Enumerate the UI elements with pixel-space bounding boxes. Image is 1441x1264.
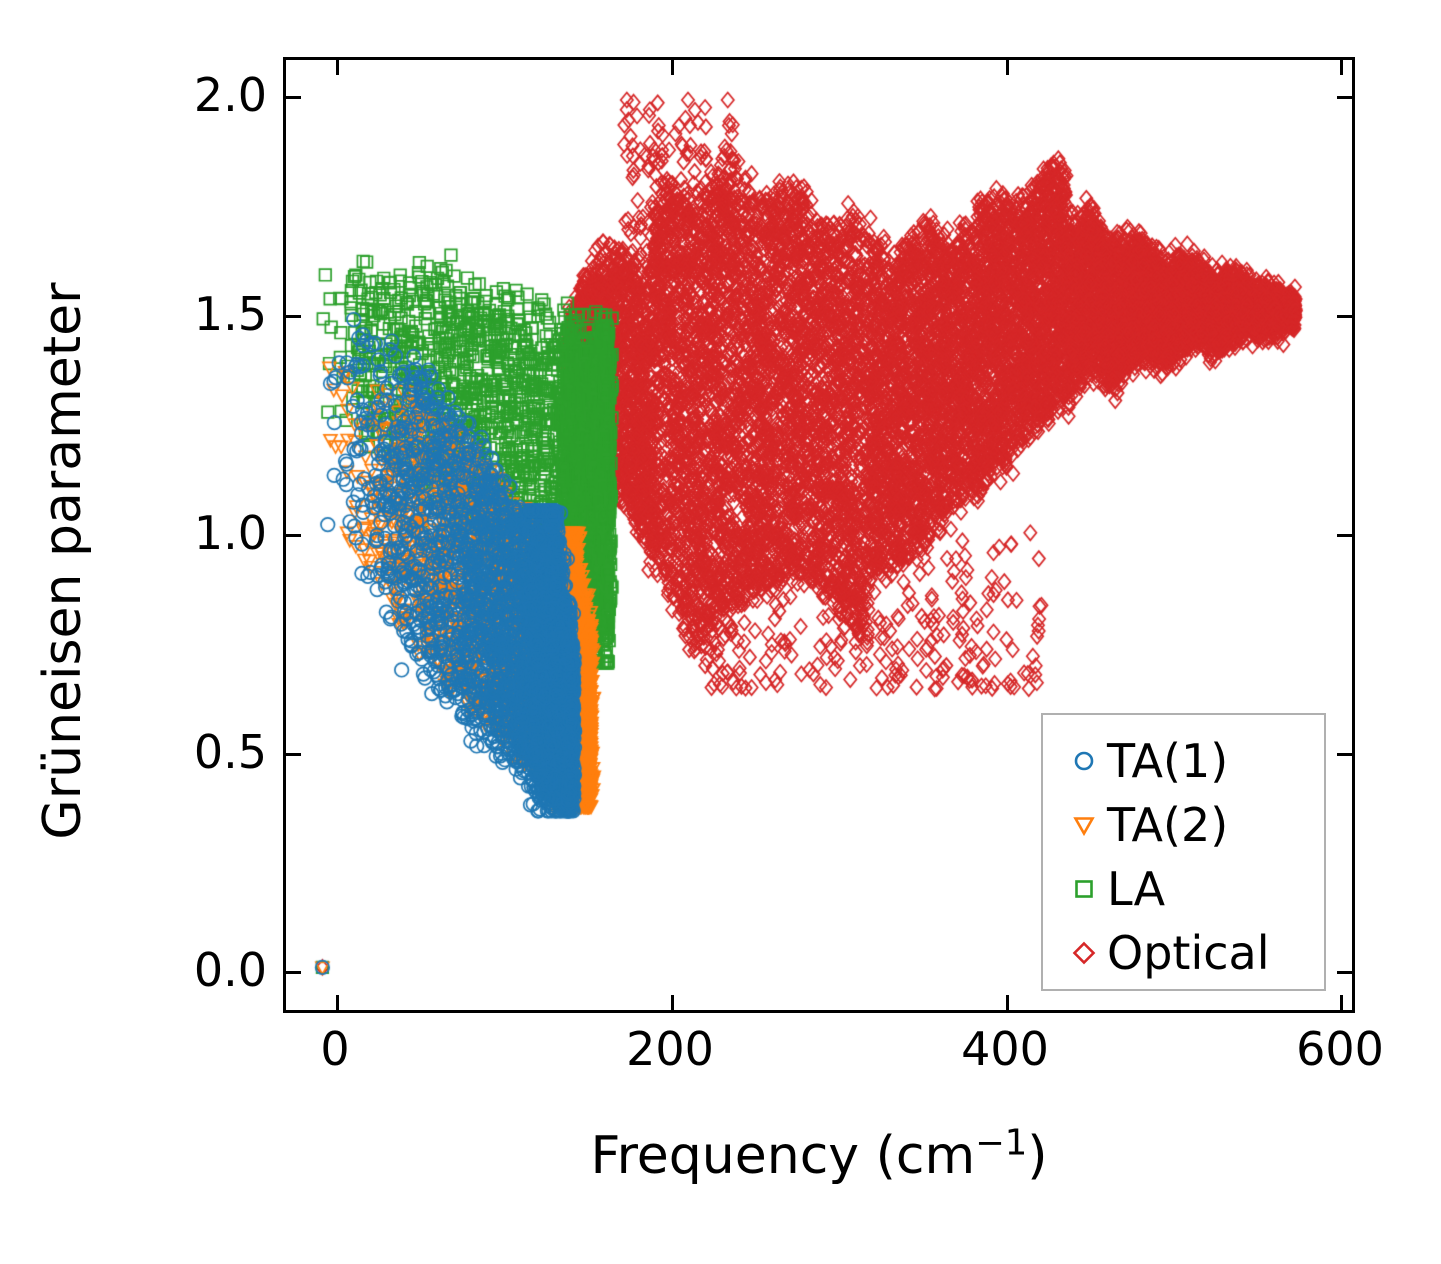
x-axis-label-text: Frequency (cm xyxy=(590,1126,975,1186)
circle-open-icon xyxy=(1061,746,1107,776)
x-tick-bottom xyxy=(671,995,674,1010)
x-axis-label-tail: ) xyxy=(1027,1126,1047,1186)
legend[interactable]: TA(1) TA(2) LA Optical xyxy=(1041,713,1326,991)
legend-label-ta1: TA(1) xyxy=(1107,738,1228,784)
y-tick-right xyxy=(1337,534,1352,537)
y-tick-left xyxy=(286,534,301,537)
legend-label-optical: Optical xyxy=(1107,930,1269,976)
y-tick-label: 0.0 xyxy=(107,947,267,993)
x-tick-label: 400 xyxy=(961,1026,1049,1072)
x-axis-label: Frequency (cm−1) xyxy=(590,1130,1047,1182)
y-tick-right xyxy=(1337,971,1352,974)
diamond-open-icon xyxy=(1061,938,1107,968)
x-tick-bottom xyxy=(1006,995,1009,1010)
figure-canvas: Grüneisen parameter 2.0 1.5 1.0 0.5 0.0 … xyxy=(0,0,1441,1264)
y-tick-left xyxy=(286,315,301,318)
x-tick-bottom xyxy=(336,995,339,1010)
y-tick-left xyxy=(286,753,301,756)
x-tick-bottom xyxy=(1340,995,1343,1010)
legend-label-la: LA xyxy=(1107,866,1165,912)
x-axis-label-exponent: −1 xyxy=(975,1123,1027,1164)
y-tick-label: 1.0 xyxy=(107,510,267,556)
legend-item-ta2[interactable]: TA(2) xyxy=(1061,793,1314,857)
y-tick-right xyxy=(1337,753,1352,756)
y-tick-right xyxy=(1337,315,1352,318)
legend-item-optical[interactable]: Optical xyxy=(1061,921,1314,985)
legend-item-la[interactable]: LA xyxy=(1061,857,1314,921)
legend-label-ta2: TA(2) xyxy=(1107,802,1228,848)
x-tick-top xyxy=(336,60,339,75)
y-tick-right xyxy=(1337,96,1352,99)
triangle-down-open-icon xyxy=(1061,810,1107,840)
x-tick-label: 600 xyxy=(1296,1026,1384,1072)
x-tick-top xyxy=(671,60,674,75)
y-tick-left xyxy=(286,96,301,99)
x-tick-label: 0 xyxy=(320,1026,349,1072)
x-tick-top xyxy=(1340,60,1343,75)
y-tick-label: 1.5 xyxy=(107,291,267,337)
y-tick-left xyxy=(286,971,301,974)
x-tick-top xyxy=(1006,60,1009,75)
y-tick-label: 2.0 xyxy=(107,72,267,118)
legend-item-ta1[interactable]: TA(1) xyxy=(1061,729,1314,793)
square-open-icon xyxy=(1061,874,1107,904)
y-axis-label: Grüneisen parameter xyxy=(37,81,89,1041)
y-tick-label: 0.5 xyxy=(107,729,267,775)
x-tick-label: 200 xyxy=(626,1026,714,1072)
